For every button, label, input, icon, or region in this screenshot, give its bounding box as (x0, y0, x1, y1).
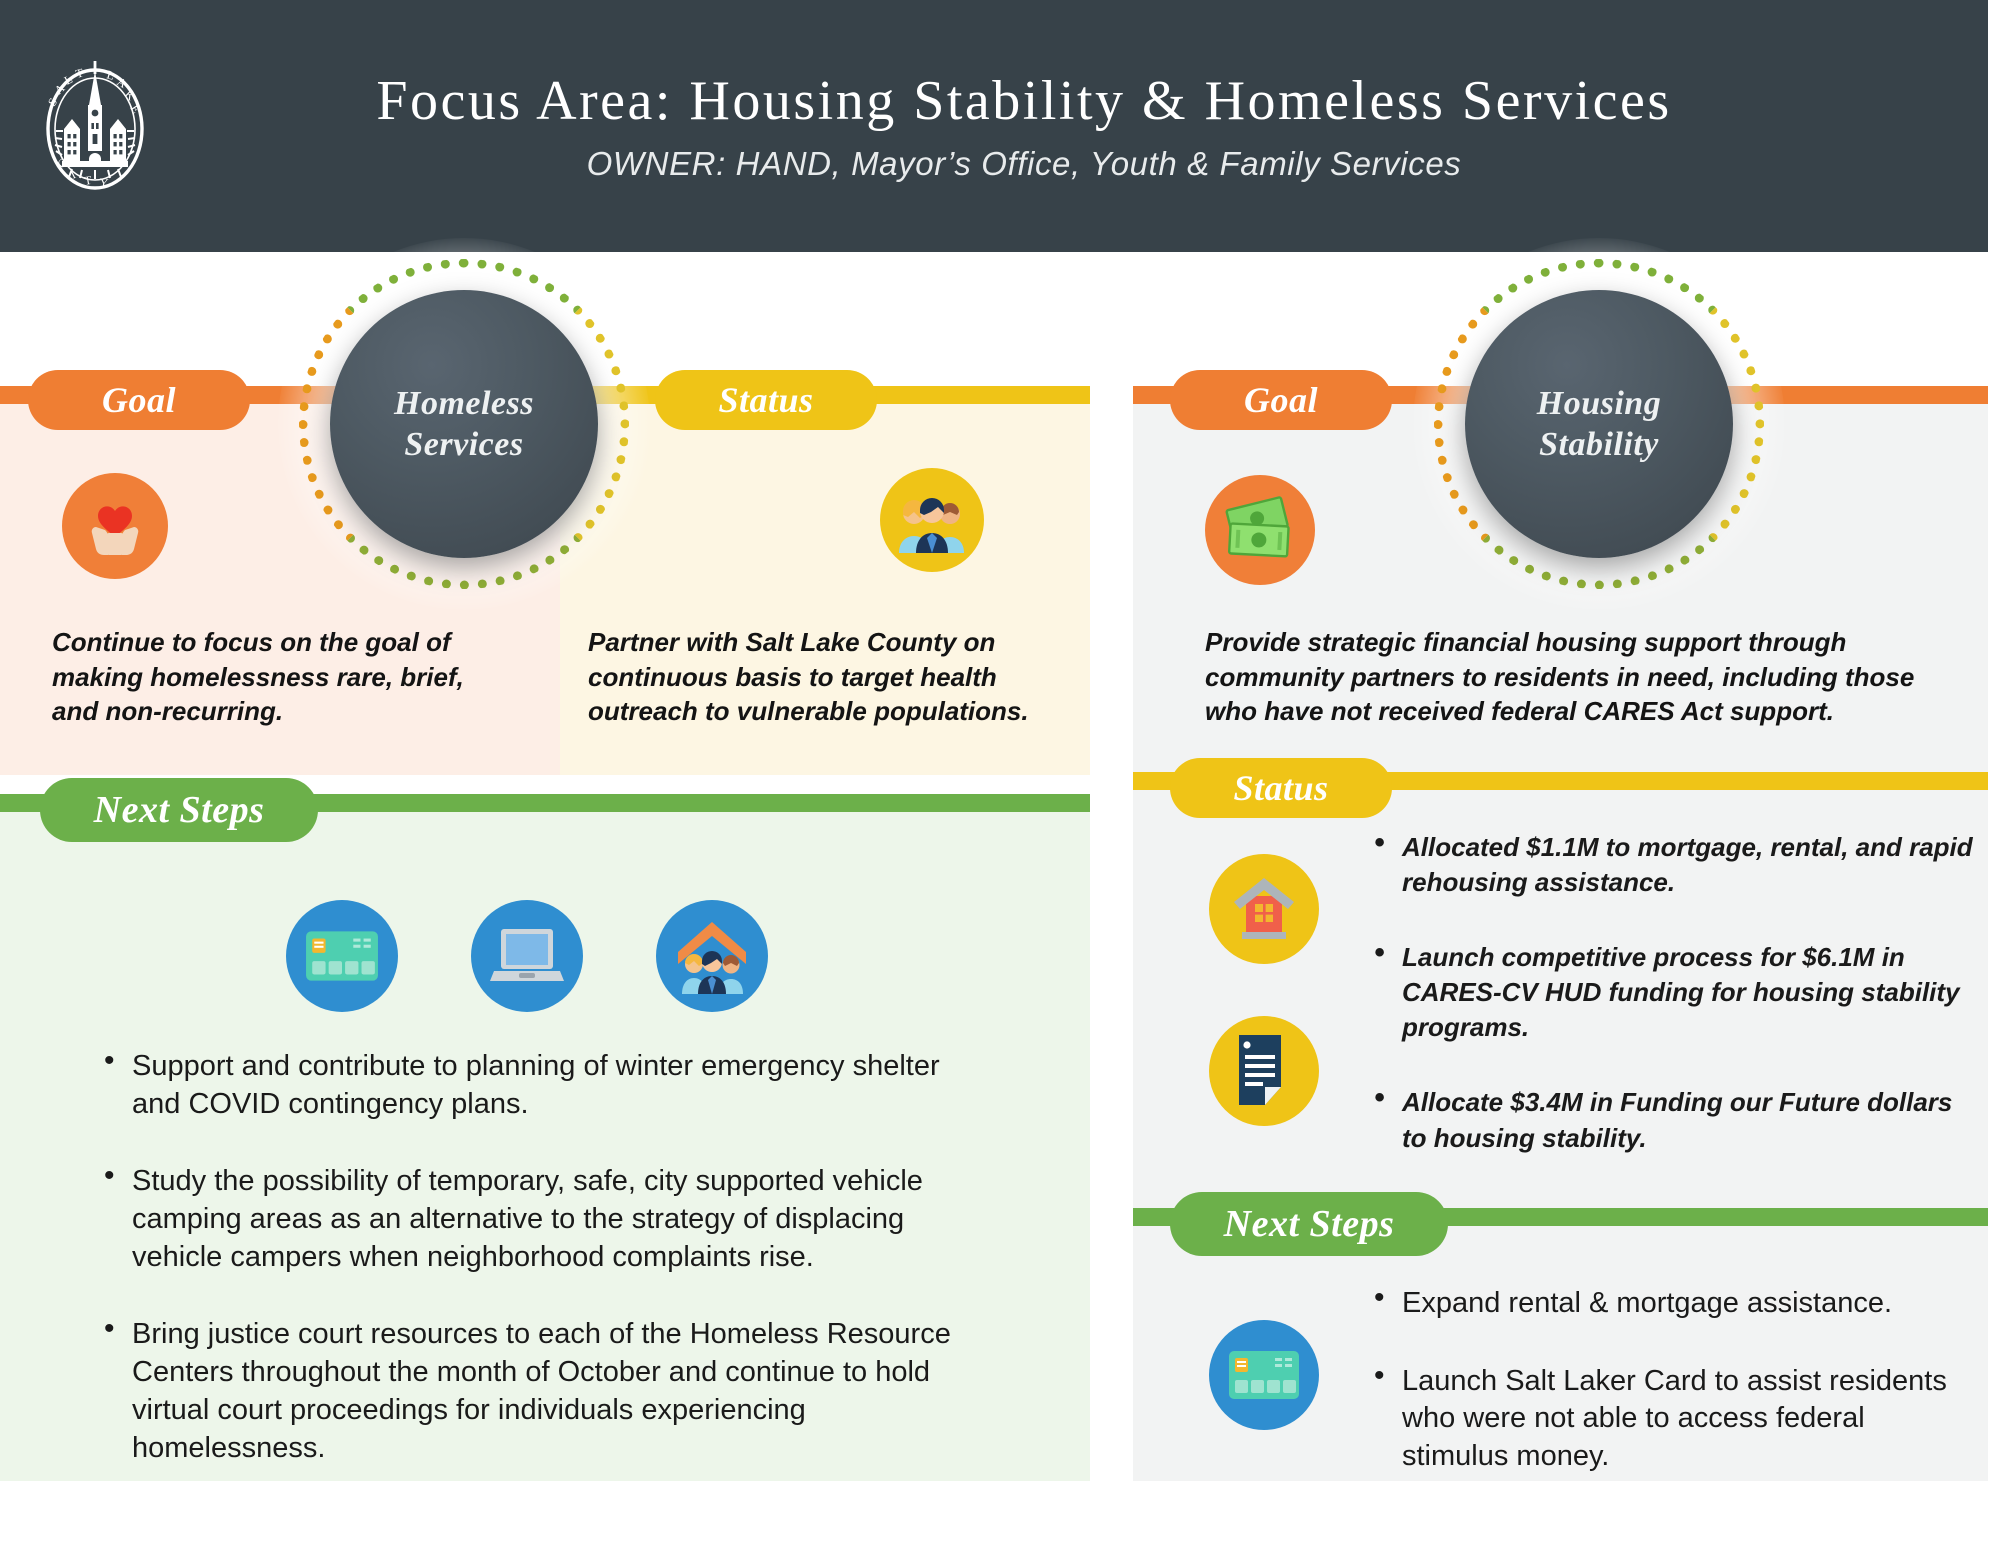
right-goal-pill[interactable]: Goal (1170, 370, 1392, 430)
left-status-text: Partner with Salt Lake County on continu… (588, 625, 1043, 729)
left-hub-circle: Homeless Services (330, 290, 598, 558)
right-next-pill[interactable]: Next Steps (1170, 1192, 1448, 1256)
svg-text:Y: Y (99, 175, 110, 190)
left-next-pill[interactable]: Next Steps (40, 778, 318, 842)
left-goal-text: Continue to focus on the goal of making … (52, 625, 512, 729)
page-subtitle: OWNER: HAND, Mayor’s Office, Youth & Fam… (190, 145, 1858, 183)
credit-card-icon (1209, 1320, 1319, 1430)
left-hub-title-line1: Homeless (394, 383, 534, 424)
list-item: Study the possibility of temporary, safe… (100, 1163, 980, 1276)
right-hub-title-line1: Housing (1537, 383, 1661, 424)
slc-logo: S A L T L A K E C I T Y (0, 51, 190, 201)
money-bills-icon (1205, 475, 1315, 585)
hands-heart-icon (62, 473, 168, 579)
list-item: Support and contribute to planning of wi… (100, 1048, 980, 1123)
list-item: Launch Salt Laker Card to assist residen… (1370, 1363, 1970, 1476)
family-house-icon (656, 900, 768, 1012)
list-item: Allocate $3.4M in Funding our Future dol… (1370, 1085, 1980, 1155)
list-item: Bring justice court resources to each of… (100, 1316, 980, 1467)
credit-card-icon (286, 900, 398, 1012)
left-hub-title-line2: Services (394, 424, 534, 465)
people-group-icon (880, 468, 984, 572)
document-icon (1209, 1016, 1319, 1126)
right-status-list: Allocated $1.1M to mortgage, rental, and… (1370, 830, 1980, 1196)
list-item: Allocated $1.1M to mortgage, rental, and… (1370, 830, 1980, 900)
list-item: Expand rental & mortgage assistance. (1370, 1285, 1970, 1323)
page-header: S A L T L A K E C I T Y Focus Area: Hous… (0, 0, 1988, 252)
house-icon (1209, 854, 1319, 964)
right-hub-title-line2: Stability (1537, 424, 1661, 465)
right-next-steps-list: Expand rental & mortgage assistance. Lau… (1370, 1285, 1970, 1516)
right-hub-circle: Housing Stability (1465, 290, 1733, 558)
right-status-pill[interactable]: Status (1170, 758, 1392, 818)
left-status-pill[interactable]: Status (655, 370, 877, 430)
left-next-steps-list: Support and contribute to planning of wi… (100, 1048, 980, 1507)
right-goal-text: Provide strategic financial housing supp… (1205, 625, 1965, 729)
laptop-icon (471, 900, 583, 1012)
svg-text:S: S (45, 95, 60, 108)
list-item: Launch competitive process for $6.1M in … (1370, 940, 1980, 1045)
left-goal-pill[interactable]: Goal (28, 370, 250, 430)
page-title: Focus Area: Housing Stability & Homeless… (190, 69, 1858, 133)
